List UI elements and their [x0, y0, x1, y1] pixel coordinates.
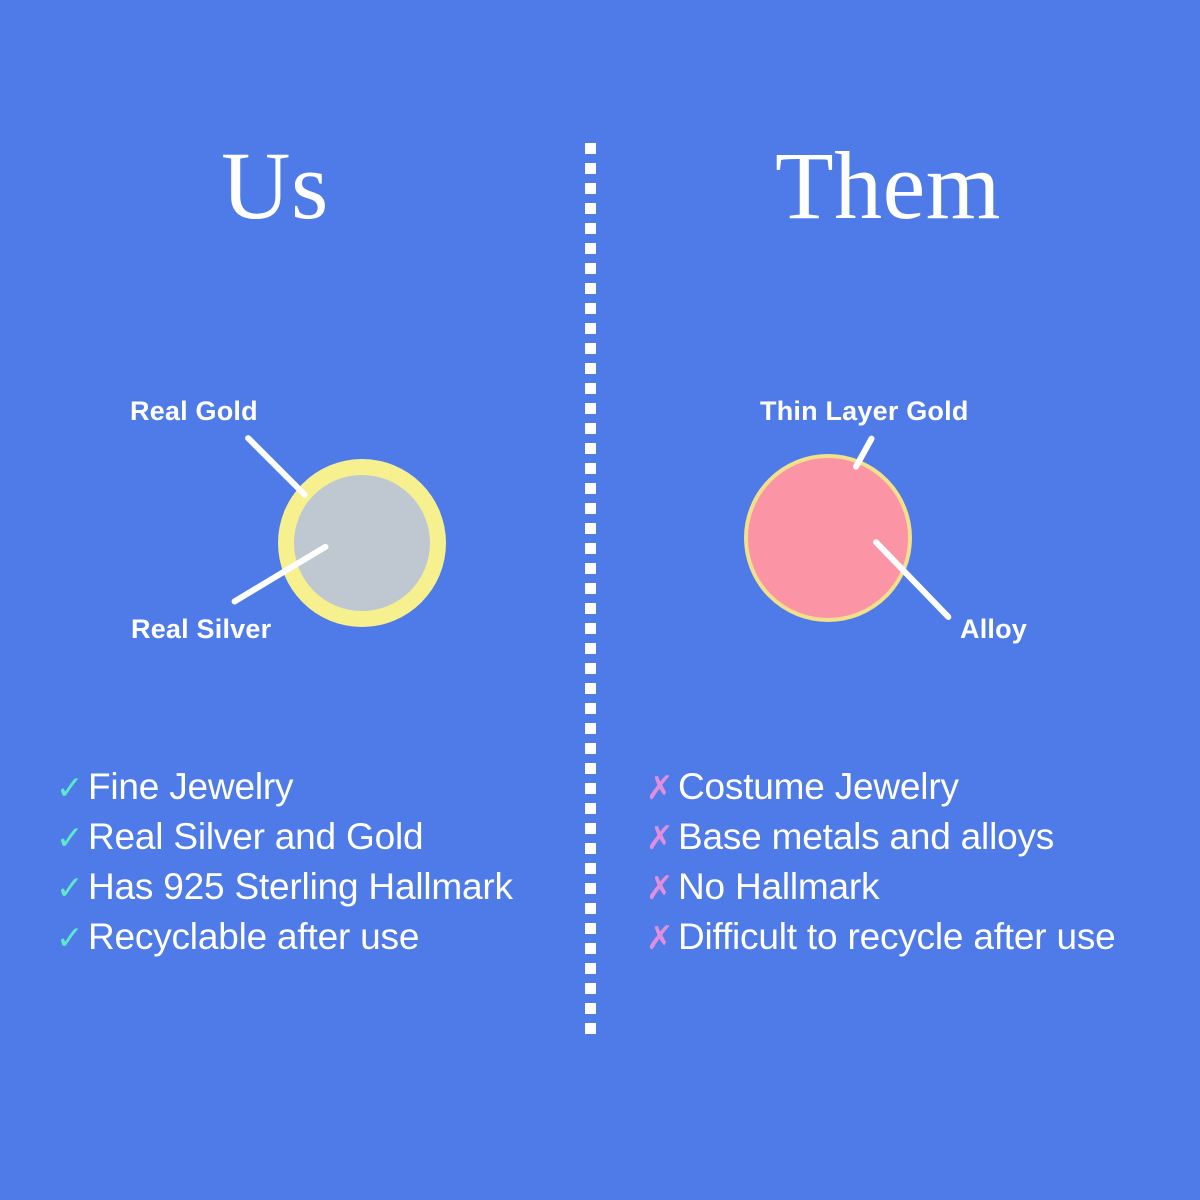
- divider-dot: [585, 623, 596, 634]
- divider-dot: [585, 943, 596, 954]
- divider-dot: [585, 463, 596, 474]
- divider-dot: [585, 543, 596, 554]
- feature-text: Real Silver and Gold: [88, 818, 423, 855]
- divider-dot: [585, 583, 596, 594]
- divider-dot: [585, 603, 596, 614]
- divider-dot: [585, 183, 596, 194]
- list-item: ✗ No Hallmark: [646, 868, 1116, 918]
- divider-dot: [585, 983, 596, 994]
- divider-dot: [585, 243, 596, 254]
- divider-dot: [585, 483, 596, 494]
- check-icon: ✓: [56, 771, 88, 804]
- check-icon: ✓: [56, 821, 88, 854]
- divider-dot: [585, 703, 596, 714]
- divider-dot: [585, 303, 596, 314]
- feature-text: Fine Jewelry: [88, 768, 293, 805]
- divider-dot: [585, 963, 596, 974]
- diagram-label-real-silver: Real Silver: [131, 614, 271, 645]
- divider-dot: [585, 383, 596, 394]
- alloy-circle-shape: [744, 454, 912, 622]
- list-item: ✓ Recyclable after use: [56, 918, 513, 968]
- feature-text: Has 925 Sterling Hallmark: [88, 868, 513, 905]
- divider-dot: [585, 743, 596, 754]
- divider-dot: [585, 903, 596, 914]
- divider-dot: [585, 843, 596, 854]
- divider-dot: [585, 803, 596, 814]
- diagram-label-alloy: Alloy: [960, 614, 1027, 645]
- check-icon: ✓: [56, 921, 88, 954]
- divider-dot: [585, 783, 596, 794]
- divider-dot: [585, 163, 596, 174]
- divider-dot: [585, 923, 596, 934]
- feature-text: Difficult to recycle after use: [678, 918, 1116, 955]
- diagram-label-real-gold: Real Gold: [130, 396, 258, 427]
- column-heading-us: Us: [0, 138, 555, 234]
- feature-text: Base metals and alloys: [678, 818, 1054, 855]
- divider-dot: [585, 1023, 596, 1034]
- divider-dot: [585, 343, 596, 354]
- real-silver-core-shape: [294, 475, 430, 611]
- vertical-dotted-divider: [585, 143, 596, 1051]
- cross-icon: ✗: [646, 821, 678, 854]
- divider-dot: [585, 863, 596, 874]
- real-gold-leader-line: [244, 434, 309, 499]
- divider-dot: [585, 1003, 596, 1014]
- list-item: ✓ Fine Jewelry: [56, 768, 513, 818]
- divider-dot: [585, 403, 596, 414]
- list-item: ✗ Base metals and alloys: [646, 818, 1116, 868]
- feature-text: Costume Jewelry: [678, 768, 959, 805]
- divider-dot: [585, 763, 596, 774]
- divider-dot: [585, 443, 596, 454]
- divider-dot: [585, 723, 596, 734]
- check-icon: ✓: [56, 871, 88, 904]
- list-item: ✓ Has 925 Sterling Hallmark: [56, 868, 513, 918]
- column-heading-them: Them: [608, 138, 1168, 234]
- divider-dot: [585, 883, 596, 894]
- divider-dot: [585, 823, 596, 834]
- divider-dot: [585, 523, 596, 534]
- divider-dot: [585, 323, 596, 334]
- feature-list-them: ✗ Costume Jewelry ✗ Base metals and allo…: [646, 768, 1116, 968]
- cross-icon: ✗: [646, 871, 678, 904]
- divider-dot: [585, 363, 596, 374]
- cross-icon: ✗: [646, 771, 678, 804]
- divider-dot: [585, 143, 596, 154]
- divider-dot: [585, 563, 596, 574]
- divider-dot: [585, 203, 596, 214]
- feature-list-us: ✓ Fine Jewelry ✓ Real Silver and Gold ✓ …: [56, 768, 513, 968]
- diagram-label-thin-layer-gold: Thin Layer Gold: [760, 396, 969, 427]
- cross-icon: ✗: [646, 921, 678, 954]
- list-item: ✗ Costume Jewelry: [646, 768, 1116, 818]
- feature-text: No Hallmark: [678, 868, 879, 905]
- divider-dot: [585, 423, 596, 434]
- divider-dot: [585, 283, 596, 294]
- divider-dot: [585, 503, 596, 514]
- divider-dot: [585, 663, 596, 674]
- divider-dot: [585, 223, 596, 234]
- divider-dot: [585, 263, 596, 274]
- list-item: ✗ Difficult to recycle after use: [646, 918, 1116, 968]
- list-item: ✓ Real Silver and Gold: [56, 818, 513, 868]
- divider-dot: [585, 683, 596, 694]
- divider-dot: [585, 643, 596, 654]
- feature-text: Recyclable after use: [88, 918, 419, 955]
- comparison-infographic: Us Them Real Gold Real Silver Thin Layer…: [0, 0, 1200, 1200]
